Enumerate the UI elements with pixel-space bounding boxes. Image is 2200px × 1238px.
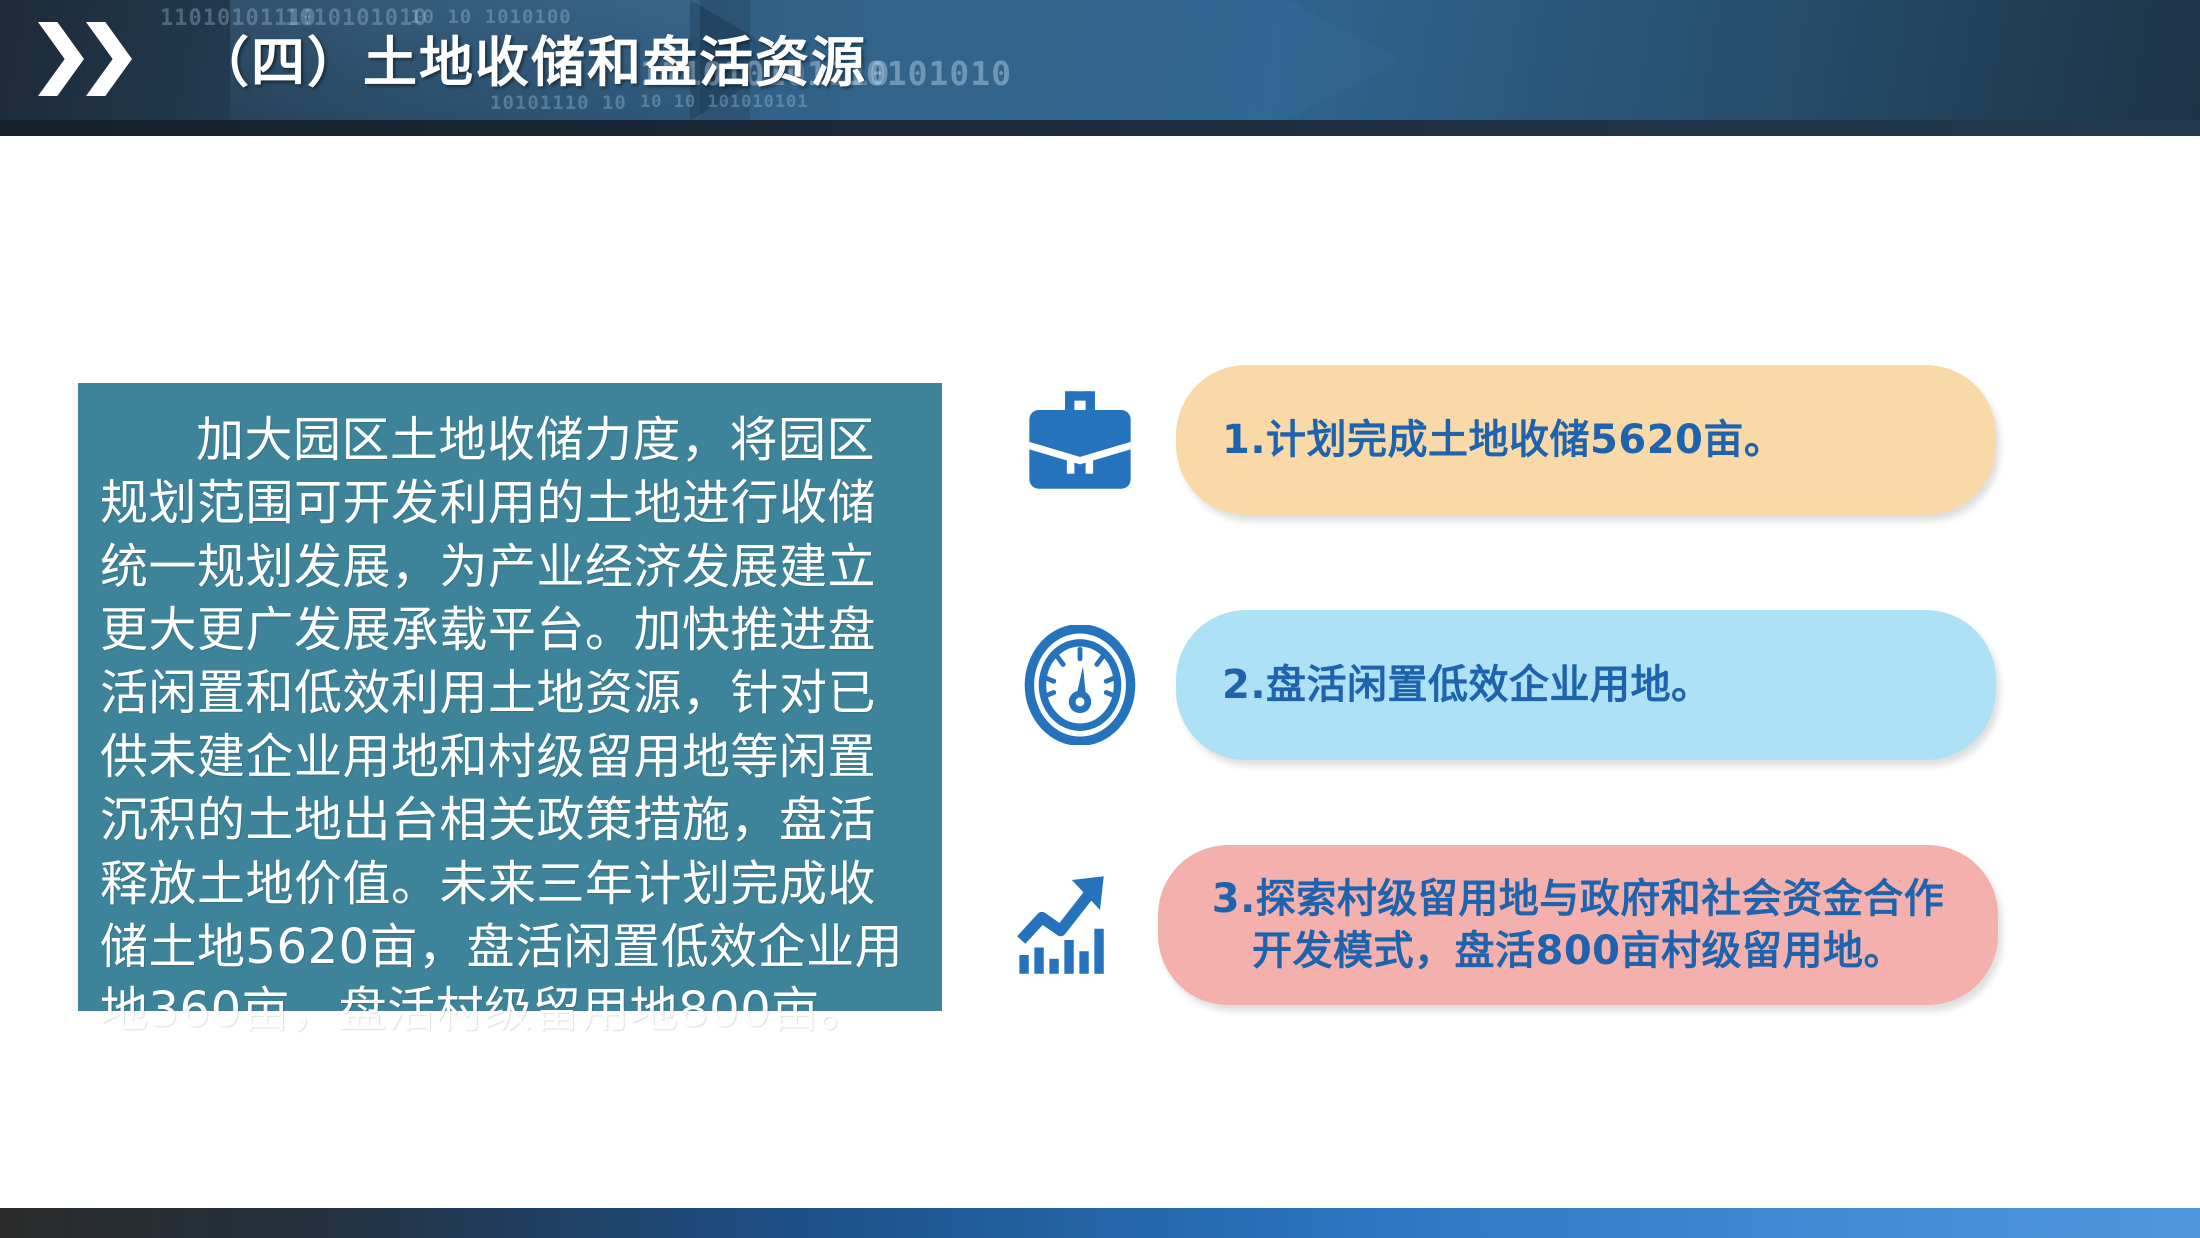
item-label: 3.探索村级留用地与政府和社会资金合作开发模式，盘活800亩村级留用地。 (1204, 873, 1952, 977)
list-item[interactable]: 2.盘活闲置低效企业用地。 (1020, 610, 1996, 760)
item-pill[interactable]: 2.盘活闲置低效企业用地。 (1176, 610, 1996, 760)
gauge-icon (1020, 625, 1140, 745)
slide-footer-bar (0, 1208, 2200, 1238)
item-pill[interactable]: 1.计划完成土地收储5620亩。 (1176, 365, 1996, 515)
description-text: 加大园区土地收储力度，将园区规划范围可开发利用的土地进行收储统一规划发展，为产业… (100, 409, 920, 1043)
chevron-right-icon-2 (86, 22, 132, 96)
page-title: （四）土地收储和盘活资源 (195, 18, 867, 97)
list-item[interactable]: 3.探索村级留用地与政府和社会资金合作开发模式，盘活800亩村级留用地。 (1010, 845, 1998, 1005)
list-item[interactable]: 1.计划完成土地收储5620亩。 (1020, 365, 1996, 515)
item-label: 2.盘活闲置低效企业用地。 (1222, 659, 1712, 711)
binary-decor-5: 10101010 (845, 54, 1012, 93)
double-chevron-right-icon (38, 22, 146, 96)
briefcase-icon (1020, 380, 1140, 500)
item-pill[interactable]: 3.探索村级留用地与政府和社会资金合作开发模式，盘活800亩村级留用地。 (1158, 845, 1998, 1005)
description-panel: 加大园区土地收储力度，将园区规划范围可开发利用的土地进行收储统一规划发展，为产业… (78, 383, 942, 1011)
chevron-right-icon-1 (38, 22, 84, 96)
item-label: 1.计划完成土地收储5620亩。 (1222, 414, 1784, 466)
slide-header: 11010101110 1010101010 10 10 1010100 111… (0, 0, 2200, 120)
header-bottom-strip (0, 120, 2200, 136)
growth-chart-icon (1010, 865, 1130, 985)
